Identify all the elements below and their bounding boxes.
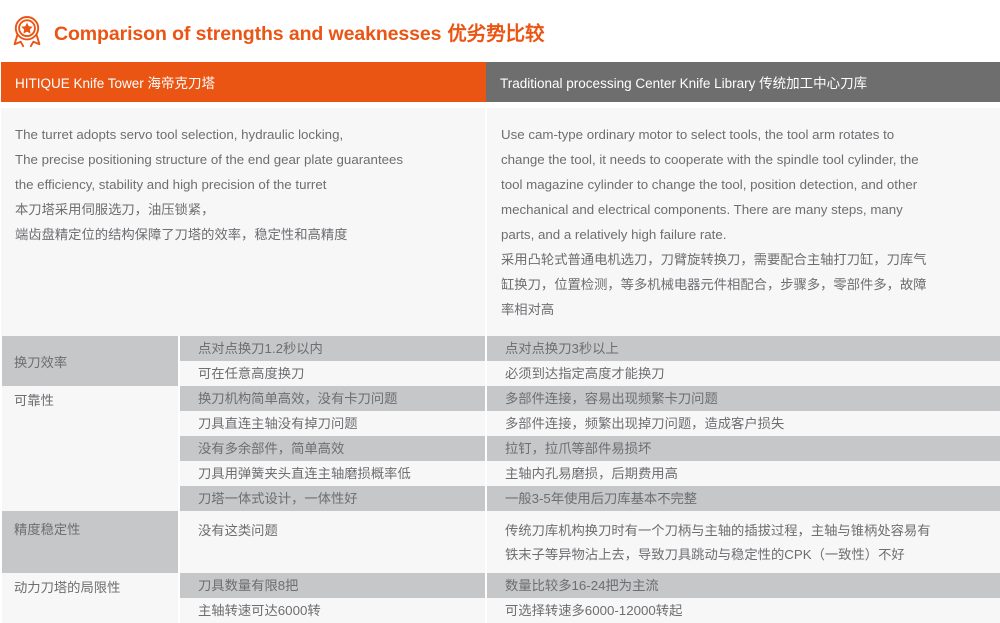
row-label: 可靠性 [1, 386, 179, 511]
description-right-line: parts, and a relatively high failure rat… [501, 222, 984, 247]
table-row: 换刀效率 点对点换刀1.2秒以内 点对点换刀3秒以上 [1, 336, 1000, 361]
description-right-line: change the tool, it needs to cooperate w… [501, 147, 984, 172]
comparison-page: Comparison of strengths and weaknesses优劣… [0, 0, 1000, 601]
table-row: 可靠性 换刀机构简单高效，没有卡刀问题 多部件连接，容易出现频繁卡刀问题 [1, 386, 1000, 411]
page-title-cn: 优劣势比较 [447, 23, 544, 45]
description-left: The turret adopts servo tool selection, … [1, 108, 486, 336]
description-left-line: 本刀塔采用伺服选刀，油压锁紧， [15, 197, 469, 222]
column-header-traditional: Traditional processing Center Knife Libr… [486, 62, 1000, 102]
description-left-line: the efficiency, stability and high preci… [15, 172, 469, 197]
row-cell-right: 一般3-5年使用后刀库基本不完整 [486, 486, 1000, 511]
row-cell-left: 刀具数量有限8把 [179, 573, 486, 598]
row-cell-left: 点对点换刀1.2秒以内 [179, 336, 486, 361]
row-cell-right: 必须到达指定高度才能换刀 [486, 361, 1000, 386]
row-label: 动力刀塔的局限性 [1, 573, 179, 623]
row-cell-right: 多部件连接，容易出现频繁卡刀问题 [486, 386, 1000, 411]
row-cell-right: 数量比较多16-24把为主流 [486, 573, 1000, 598]
comparison-table-body: HITIQUE Knife Tower 海帝克刀塔 Traditional pr… [1, 62, 1000, 623]
description-left-line: The turret adopts servo tool selection, … [15, 122, 469, 147]
row-cell-left: 刀塔一体式设计，一体性好 [179, 486, 486, 511]
row-label: 换刀效率 [1, 336, 179, 386]
description-right-line: 率相对高 [501, 297, 984, 322]
description-right-line: tool magazine cylinder to change the too… [501, 172, 984, 197]
row-cell-left: 刀具直连主轴没有掉刀问题 [179, 411, 486, 436]
page-title-en: Comparison of strengths and weaknesses [54, 23, 441, 45]
description-right-line: mechanical and electrical components. Th… [501, 197, 984, 222]
table-row: 动力刀塔的局限性 刀具数量有限8把 数量比较多16-24把为主流 [1, 573, 1000, 598]
row-cell-left: 换刀机构简单高效，没有卡刀问题 [179, 386, 486, 411]
description-right: Use cam-type ordinary motor to select to… [486, 108, 1000, 336]
page-header: Comparison of strengths and weaknesses优劣… [0, 0, 1000, 62]
row-cell-right: 拉钉，拉爪等部件易损坏 [486, 436, 1000, 461]
description-right-line: Use cam-type ordinary motor to select to… [501, 122, 984, 147]
comparison-table: HITIQUE Knife Tower 海帝克刀塔 Traditional pr… [0, 62, 1000, 623]
row-cell-right: 主轴内孔易磨损，后期费用高 [486, 461, 1000, 486]
row-cell-left: 没有这类问题 [179, 511, 486, 573]
award-badge-icon [10, 14, 44, 48]
row-cell-right: 多部件连接，频繁出现掉刀问题，造成客户损失 [486, 411, 1000, 436]
description-row: The turret adopts servo tool selection, … [1, 108, 1000, 336]
row-cell-right: 点对点换刀3秒以上 [486, 336, 1000, 361]
description-right-line: 采用凸轮式普通电机选刀，刀臂旋转换刀，需要配合主轴打刀缸，刀库气 [501, 247, 984, 272]
table-row: 精度稳定性 没有这类问题 传统刀库机构换刀时有一个刀柄与主轴的插拔过程，主轴与锥… [1, 511, 1000, 573]
description-left-line: 端齿盘精定位的结构保障了刀塔的效率，稳定性和高精度 [15, 222, 469, 247]
description-right-line: 缸换刀，位置检测，等多机械电器元件相配合，步骤多，零部件多，故障 [501, 272, 984, 297]
row-cell-left: 没有多余部件，简单高效 [179, 436, 486, 461]
row-cell-left: 可在任意高度换刀 [179, 361, 486, 386]
row-cell-left: 主轴转速可达6000转 [179, 598, 486, 623]
column-header-hitique: HITIQUE Knife Tower 海帝克刀塔 [1, 62, 486, 102]
row-cell-left: 刀具用弹簧夹头直连主轴磨损概率低 [179, 461, 486, 486]
row-cell-right: 可选择转速多6000-12000转起 [486, 598, 1000, 623]
table-header-row: HITIQUE Knife Tower 海帝克刀塔 Traditional pr… [1, 62, 1000, 102]
description-left-line: The precise positioning structure of the… [15, 147, 469, 172]
row-label: 精度稳定性 [1, 511, 179, 573]
page-title: Comparison of strengths and weaknesses优劣… [54, 17, 544, 46]
row-cell-right: 传统刀库机构换刀时有一个刀柄与主轴的插拔过程，主轴与锥柄处容易有 铁末子等异物沾… [486, 511, 1000, 573]
